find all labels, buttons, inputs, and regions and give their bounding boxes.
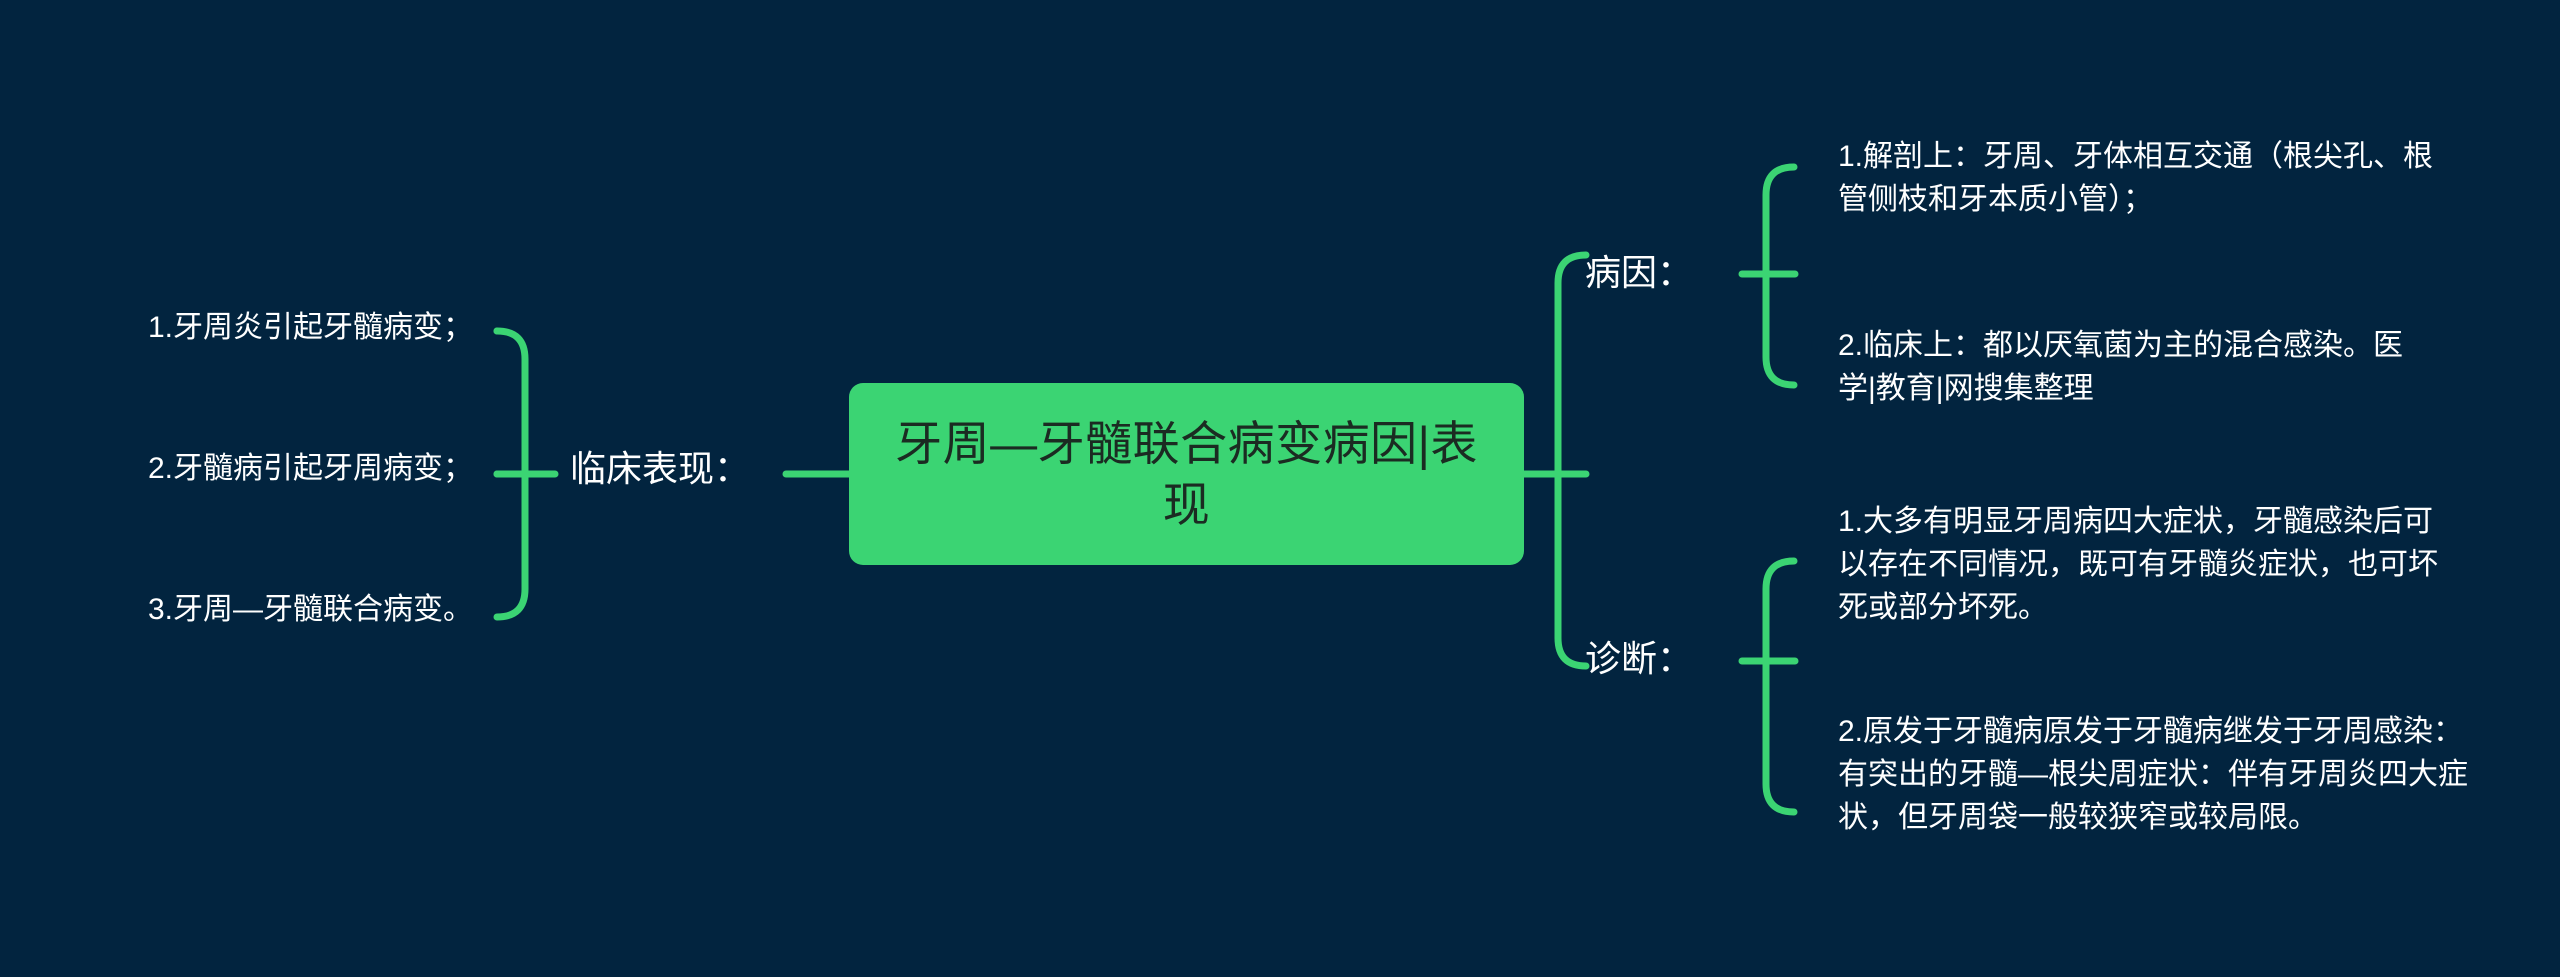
branch-label-cause[interactable]: 病因： <box>1585 250 1693 295</box>
mindmap-canvas: 牙周—牙髓联合病变病因|表现 临床表现： 病因： 诊断： 1.牙周炎引起牙髓病变… <box>0 0 2560 977</box>
connector-right-main-bracket <box>1558 255 1586 666</box>
connector-diagnosis-bracket <box>1766 561 1794 812</box>
center-node[interactable]: 牙周—牙髓联合病变病因|表现 <box>849 383 1524 565</box>
leaf-cause-1[interactable]: 1.解剖上：牙周、牙体相互交通（根尖孔、根管侧枝和牙本质小管）； <box>1838 135 2438 221</box>
leaf-clinical-1[interactable]: 1.牙周炎引起牙髓病变； <box>148 306 500 349</box>
leaf-diagnosis-1[interactable]: 1.大多有明显牙周病四大症状，牙髓感染后可以存在不同情况，既可有牙髓炎症状，也可… <box>1838 500 2458 630</box>
leaf-clinical-2[interactable]: 2.牙髓病引起牙周病变； <box>148 447 500 490</box>
center-node-title: 牙周—牙髓联合病变病因|表现 <box>875 413 1498 535</box>
leaf-diagnosis-2[interactable]: 2.原发于牙髓病原发于牙髓病继发于牙周感染：有突出的牙髓—根尖周症状：伴有牙周炎… <box>1838 710 2470 840</box>
leaf-clinical-3[interactable]: 3.牙周—牙髓联合病变。 <box>148 588 500 631</box>
connector-cause-bracket <box>1766 167 1794 385</box>
connector-clinical-bracket <box>497 331 525 617</box>
leaf-cause-2[interactable]: 2.临床上：都以厌氧菌为主的混合感染。医学|教育|网搜集整理 <box>1838 324 2438 410</box>
branch-label-clinical[interactable]: 临床表现： <box>570 446 750 491</box>
branch-label-diagnosis[interactable]: 诊断： <box>1585 636 1693 681</box>
